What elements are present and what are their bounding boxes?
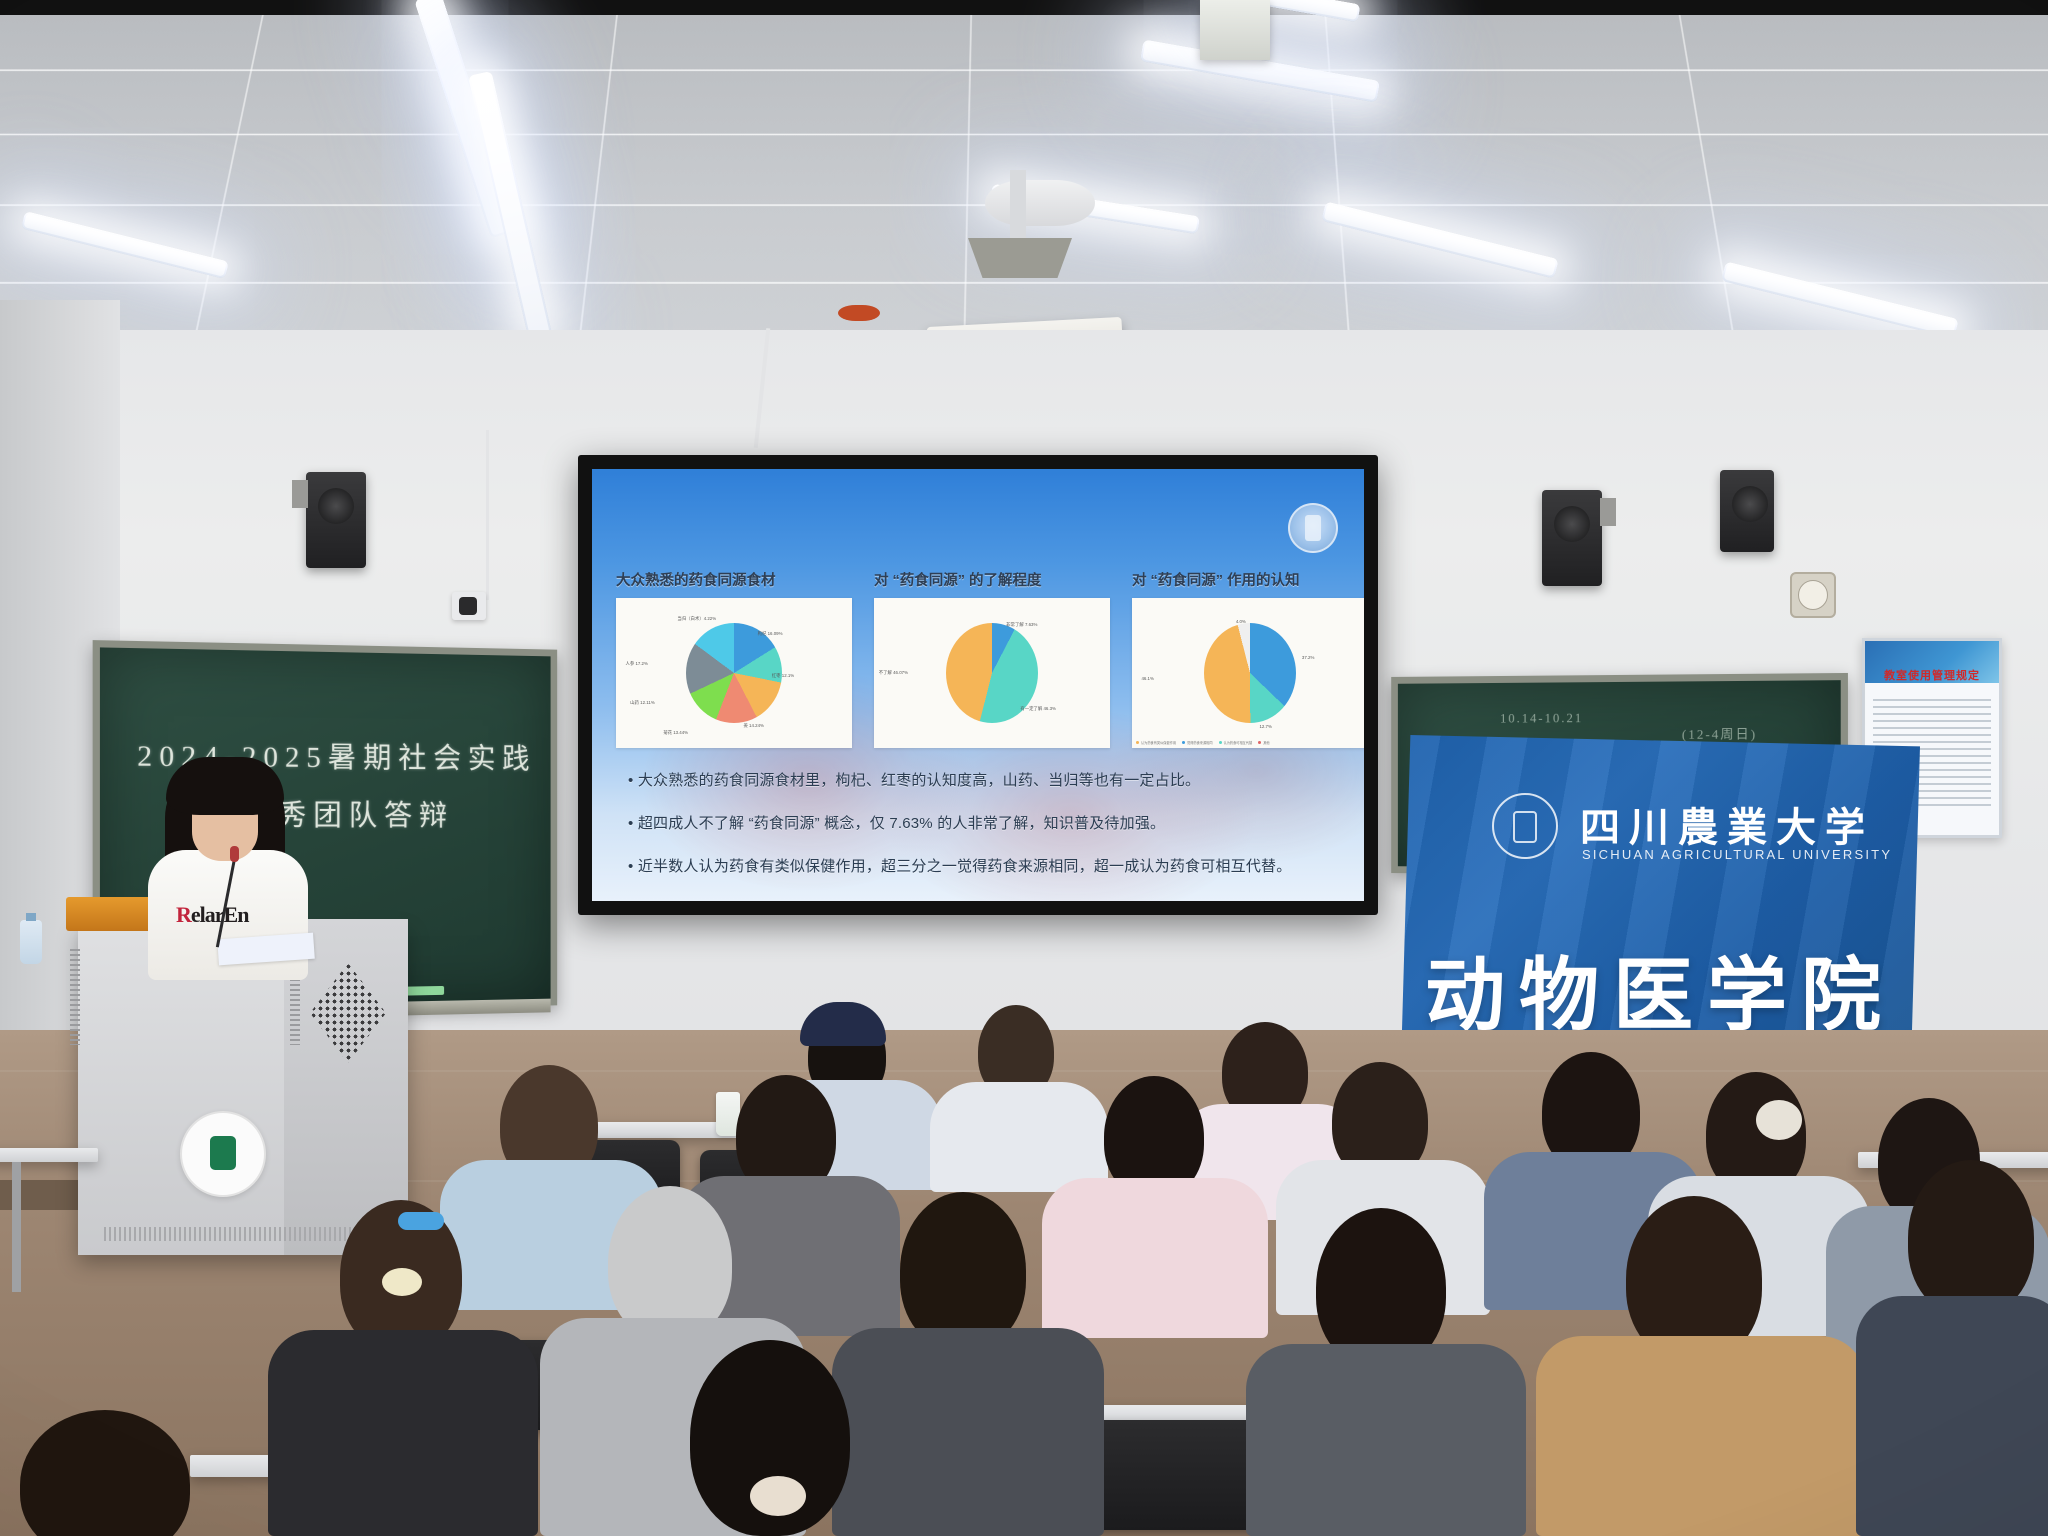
legend-label: 觉得药食来源相同: [1187, 740, 1213, 745]
desk-leg: [12, 1162, 21, 1292]
pie-label: 山药 12.11%: [630, 700, 655, 706]
poster-title: 教室使用管理规定: [1865, 667, 1999, 683]
presenter-shirt-logo: RelarEn: [176, 902, 248, 928]
lectern-vent: [70, 949, 80, 1045]
microphone-head-icon: [230, 846, 239, 862]
banner-university-emblem-icon: [1492, 793, 1558, 859]
pie-label: 人参 17.2%: [625, 661, 647, 667]
lectern-university-emblem-icon: [180, 1111, 266, 1197]
pie-label: 有一定了解 46.3%: [1020, 706, 1056, 712]
audience-head: [900, 1192, 1026, 1350]
chart-card-1: 枸杞 16.09% 红枣 12.1% 姜 14.24% 菊花 13.44% 山药…: [616, 598, 852, 748]
lecture-hall-scene: EPSON 教室使用管理规定 大众熟悉的药食同源食材: [0, 0, 2048, 1536]
pie-label: 46.1%: [1141, 676, 1153, 681]
slide-bullet: • 超四成人不了解 “药食同源” 概念，仅 7.63% 的人非常了解，知识普及待…: [628, 812, 1334, 833]
audience-head: [1908, 1160, 2034, 1316]
pie-chart-1: [686, 623, 782, 723]
ceiling-speaker-dome: [985, 180, 1095, 226]
audience-shoulders: [268, 1330, 538, 1536]
chart-block-3: 对 “药食同源” 作用的认知 4.0% 37.2% 12.7% 46.1% 认为…: [1132, 569, 1364, 748]
audience-hair-tie: [382, 1268, 422, 1296]
chalkboard-right-note: 10.14-10.21: [1500, 710, 1583, 726]
pie-label: 不了解 46.07%: [879, 670, 908, 676]
audience-hair-bun: [1756, 1100, 1802, 1140]
legend-label: 认为药食有类似保健作用: [1141, 740, 1176, 745]
pie-label: 枸杞 16.09%: [758, 631, 783, 637]
chart-card-3: 4.0% 37.2% 12.7% 46.1% 认为药食有类似保健作用 觉得药食来…: [1132, 598, 1364, 748]
banner-university-name-cn: 四川農業大学: [1580, 795, 1874, 853]
chart-block-1: 大众熟悉的药食同源食材 枸杞 16.09% 红枣 12.1% 姜 14.24% …: [616, 569, 852, 748]
audience-shoulders: [1536, 1336, 1866, 1536]
wall-speaker-far-right: [1720, 470, 1774, 552]
pie-label: 菊花 13.44%: [663, 730, 688, 736]
desk: [0, 1148, 98, 1162]
pie-label: 37.2%: [1302, 655, 1314, 660]
smoke-detector: [838, 305, 880, 321]
chalkboard-right-note: (12-4周日): [1682, 723, 1757, 742]
slide-university-logo-icon: [1288, 503, 1338, 553]
security-camera: [452, 592, 486, 620]
banner-university-name-en: SICHUAN AGRICULTURAL UNIVERSITY: [1582, 847, 1892, 862]
pie-label: 姜 14.24%: [743, 723, 764, 729]
audience-hair-clip-icon: [398, 1212, 444, 1230]
shirt-logo-accent: R: [176, 902, 191, 927]
ceiling-equipment-box: [1200, 0, 1270, 60]
charts-row: 大众熟悉的药食同源食材 枸杞 16.09% 红枣 12.1% 姜 14.24% …: [616, 569, 1364, 748]
pie-3-legend: 认为药食有类似保健作用 觉得药食来源相同 认为药食可相互代替 其他: [1136, 740, 1364, 745]
pie-label: 4.0%: [1236, 619, 1246, 624]
lectern-bottom-grille: [104, 1227, 384, 1241]
pie-label: 当归（白术）4.22%: [677, 616, 716, 622]
projector-bracket: [968, 238, 1072, 278]
audience-shoulders: [930, 1082, 1108, 1192]
projection-screen-frame: 大众熟悉的药食同源食材 枸杞 16.09% 红枣 12.1% 姜 14.24% …: [578, 455, 1378, 915]
legend-label: 其他: [1263, 740, 1269, 745]
presenter-hair-front: [166, 757, 284, 815]
audience-shoulders: [1856, 1296, 2048, 1536]
ceiling-cable: [486, 430, 489, 600]
water-bottle: [20, 920, 42, 964]
chart-title-1: 大众熟悉的药食同源食材: [616, 569, 852, 590]
slide-bullet: • 大众熟悉的药食同源食材里，枸杞、红枣的认知度高，山药、当归等也有一定占比。: [628, 769, 1334, 790]
chart-title-3: 对 “药食同源” 作用的认知: [1132, 569, 1364, 590]
projection-screen: 大众熟悉的药食同源食材 枸杞 16.09% 红枣 12.1% 姜 14.24% …: [592, 469, 1364, 901]
wall-clock: [1790, 572, 1836, 618]
pie-label: 红枣 12.1%: [772, 673, 794, 679]
wall-speaker-left: [306, 472, 366, 568]
pie-label: 12.7%: [1259, 724, 1271, 729]
slide-bullets: • 大众熟悉的药食同源食材里，枸杞、红枣的认知度高，山药、当归等也有一定占比。 …: [628, 769, 1334, 898]
audience-hair-tie: [750, 1476, 806, 1516]
audience-shoulders: [1042, 1178, 1268, 1338]
audience-shoulders: [1246, 1344, 1526, 1536]
chart-block-2: 对 “药食同源” 的了解程度 非常了解 7.63% 有一定了解 46.3% 不了…: [874, 569, 1110, 748]
pie-chart-3: [1204, 623, 1296, 723]
chart-title-2: 对 “药食同源” 的了解程度: [874, 569, 1110, 590]
wall-speaker-right: [1542, 490, 1602, 586]
chart-card-2: 非常了解 7.63% 有一定了解 46.3% 不了解 46.07%: [874, 598, 1110, 748]
audience-shoulders: [832, 1328, 1104, 1536]
audience-head: [608, 1186, 732, 1340]
pie-label: 非常了解 7.63%: [1006, 622, 1037, 628]
slide-bullet: • 近半数人认为药食有类似保健作用，超三分之一觉得药食来源相同，超一成认为药食可…: [628, 855, 1334, 876]
legend-label: 认为药食可相互代替: [1224, 740, 1253, 745]
